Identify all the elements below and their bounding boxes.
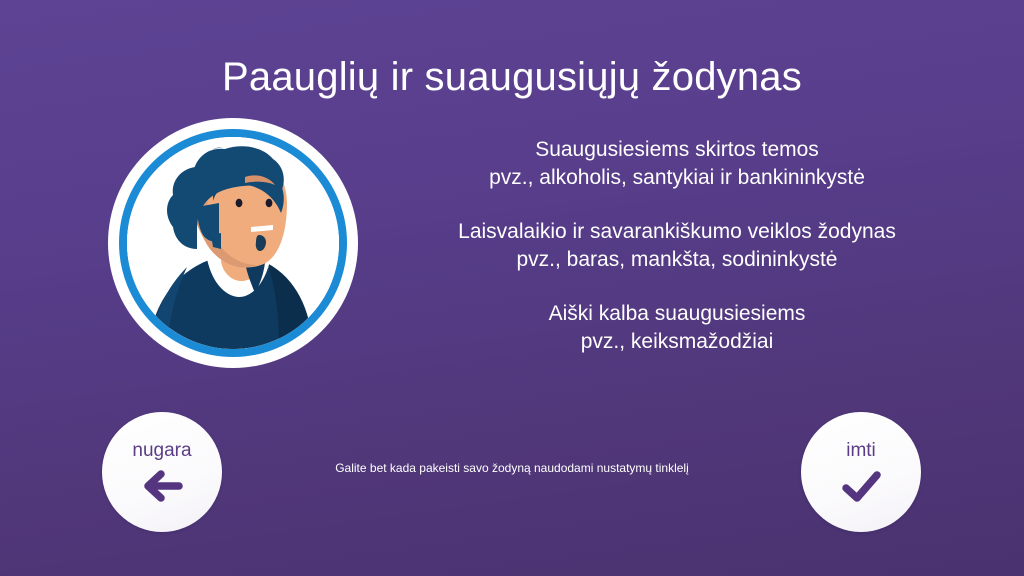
feature-example: pvz., baras, mankšta, sodininkystė: [392, 246, 962, 274]
feature-heading: Aiški kalba suaugusiesiems: [392, 300, 962, 328]
avatar-illustration: [127, 137, 339, 349]
person-illustration-icon: [127, 137, 339, 349]
feature-item: Suaugusiesiems skirtos temos pvz., alkoh…: [392, 136, 962, 192]
back-button[interactable]: nugara: [102, 412, 222, 532]
back-button-label: nugara: [132, 440, 191, 462]
page-title: Paauglių ir suaugusiųjų žodynas: [0, 52, 1024, 102]
avatar: [108, 118, 358, 368]
feature-item: Aiški kalba suaugusiesiems pvz., keiksma…: [392, 300, 962, 356]
feature-example: pvz., alkoholis, santykiai ir bankininky…: [392, 164, 962, 192]
feature-item: Laisvalaikio ir savarankiškumo veiklos ž…: [392, 218, 962, 274]
accept-button[interactable]: imti: [801, 412, 921, 532]
feature-example: pvz., keiksmažodžiai: [392, 328, 962, 356]
feature-list: Suaugusiesiems skirtos temos pvz., alkoh…: [392, 136, 962, 356]
slide-screen: Paauglių ir suaugusiųjų žodynas: [0, 0, 1024, 576]
feature-heading: Suaugusiesiems skirtos temos: [392, 136, 962, 164]
accept-button-label: imti: [846, 440, 876, 462]
feature-heading: Laisvalaikio ir savarankiškumo veiklos ž…: [392, 218, 962, 246]
arrow-left-icon: [139, 468, 185, 504]
check-icon: [838, 468, 884, 504]
